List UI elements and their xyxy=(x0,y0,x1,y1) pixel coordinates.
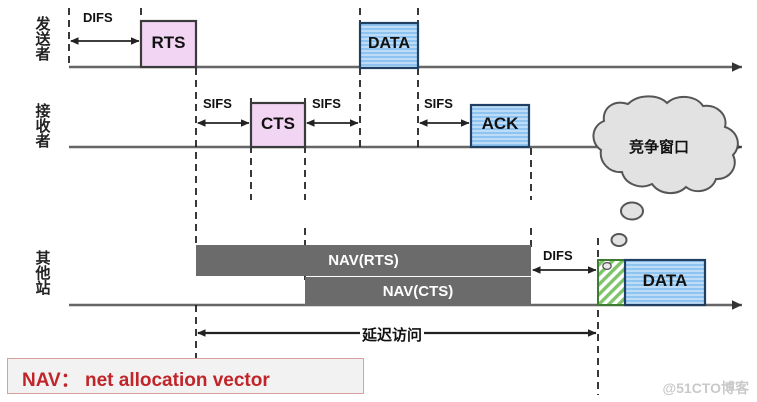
nav-legend-text: NAV： net allocation vector xyxy=(22,365,270,392)
lane-label-others-char-2: 他 xyxy=(32,266,54,281)
interval-label-sifs-2: SIFS xyxy=(312,96,341,111)
lane-label-receiver: 接 收 者 xyxy=(32,104,54,149)
lane-label-sender-char-1: 发 xyxy=(32,17,54,32)
lane-label-sender-char-2: 送 xyxy=(32,32,54,47)
lane-label-others: 其 他 站 xyxy=(32,251,54,296)
interval-label-difs-1: DIFS xyxy=(83,10,113,25)
watermark-label: @51CTO博客 xyxy=(662,378,749,398)
interval-arrows xyxy=(71,41,596,270)
nav-rts-label: NAV(RTS) xyxy=(196,252,531,269)
lane-label-receiver-char-2: 收 xyxy=(32,119,54,134)
frame-data-sender-label: DATA xyxy=(358,35,420,53)
deferred-access-label: 延迟访问 xyxy=(360,324,424,345)
lane-label-others-char-3: 站 xyxy=(32,281,54,296)
interval-label-sifs-1: SIFS xyxy=(203,96,232,111)
lane-label-receiver-char-1: 接 xyxy=(32,104,54,119)
cloud-bubble-small xyxy=(612,234,627,246)
nav-cts-label: NAV(CTS) xyxy=(305,283,531,300)
frame-ack-label: ACK xyxy=(471,114,529,134)
cloud-bubble-large xyxy=(621,203,643,220)
contention-window-label: 竞争窗口 xyxy=(629,136,689,157)
frame-data-others-label: DATA xyxy=(625,271,705,291)
interval-label-difs-2: DIFS xyxy=(543,248,573,263)
lane-label-sender-char-3: 者 xyxy=(32,47,54,62)
lane-label-receiver-char-3: 者 xyxy=(32,134,54,149)
lane-label-others-char-1: 其 xyxy=(32,251,54,266)
interval-label-sifs-3: SIFS xyxy=(424,96,453,111)
lane-label-sender: 发 送 者 xyxy=(32,17,54,62)
backoff-slot[interactable] xyxy=(598,260,625,305)
nav-legend-box: NAV： net allocation vector xyxy=(7,358,364,394)
protocol-timing-diagram: 发 送 者 接 收 者 其 他 站 RTS DATA CTS ACK DATA … xyxy=(0,0,757,402)
frame-cts-label: CTS xyxy=(251,114,305,134)
frame-rts-label: RTS xyxy=(141,33,196,53)
